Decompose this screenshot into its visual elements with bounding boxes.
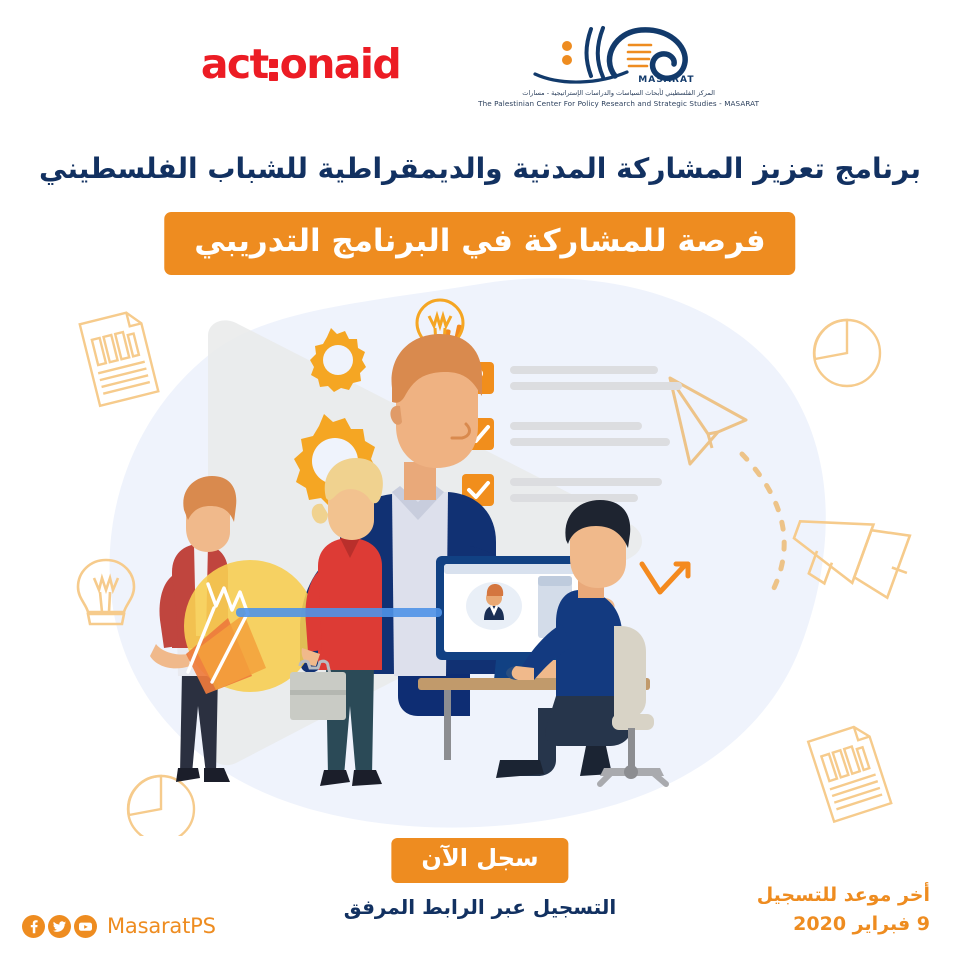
pie-chart-icon-bottom-left	[128, 776, 194, 836]
floor-accent-line	[236, 608, 442, 617]
poster-canvas: actonaid	[0, 0, 960, 960]
youtube-icon[interactable]	[74, 915, 97, 938]
deadline-block: أخر موعد للتسجيل 9 فبراير 2020	[757, 881, 930, 938]
deadline-date: 9 فبراير 2020	[757, 910, 930, 939]
facebook-icon[interactable]	[22, 915, 45, 938]
actionaid-logo-text-b: onaid	[280, 40, 400, 88]
illustration-stage: ?	[0, 276, 960, 836]
social-bar: MasaratPS	[22, 914, 216, 938]
masarat-english-tagline: The Palestinian Center For Policy Resear…	[478, 99, 759, 108]
masarat-arabic-tagline: المركز الفلسطيني لأبحاث السياسات والدراس…	[522, 89, 715, 97]
illustration-svg: ?	[0, 276, 960, 836]
actionaid-logo-text-a: act	[201, 40, 268, 88]
register-now-button[interactable]: سجل الآن	[391, 838, 568, 883]
actionaid-logo: actonaid	[201, 44, 400, 85]
program-title: برنامج تعزيز المشاركة المدنية والديمقراط…	[0, 150, 960, 188]
deadline-label: أخر موعد للتسجيل	[757, 881, 930, 910]
pie-chart-icon-top-right	[814, 320, 880, 386]
social-handle: MasaratPS	[107, 914, 216, 938]
document-icon-top-left	[80, 310, 159, 406]
masarat-wordmark: MASARAT	[638, 75, 694, 85]
opportunity-chip: فرصة للمشاركة في البرنامج التدريبي	[164, 212, 795, 275]
masarat-logo: MASARAT المركز الفلسطيني لأبحاث السياسات…	[478, 24, 759, 108]
document-icon-bottom-right	[808, 723, 891, 821]
masarat-logo-mark: MASARAT	[529, 24, 709, 86]
twitter-icon[interactable]	[48, 915, 71, 938]
logo-bar: actonaid	[0, 22, 960, 137]
